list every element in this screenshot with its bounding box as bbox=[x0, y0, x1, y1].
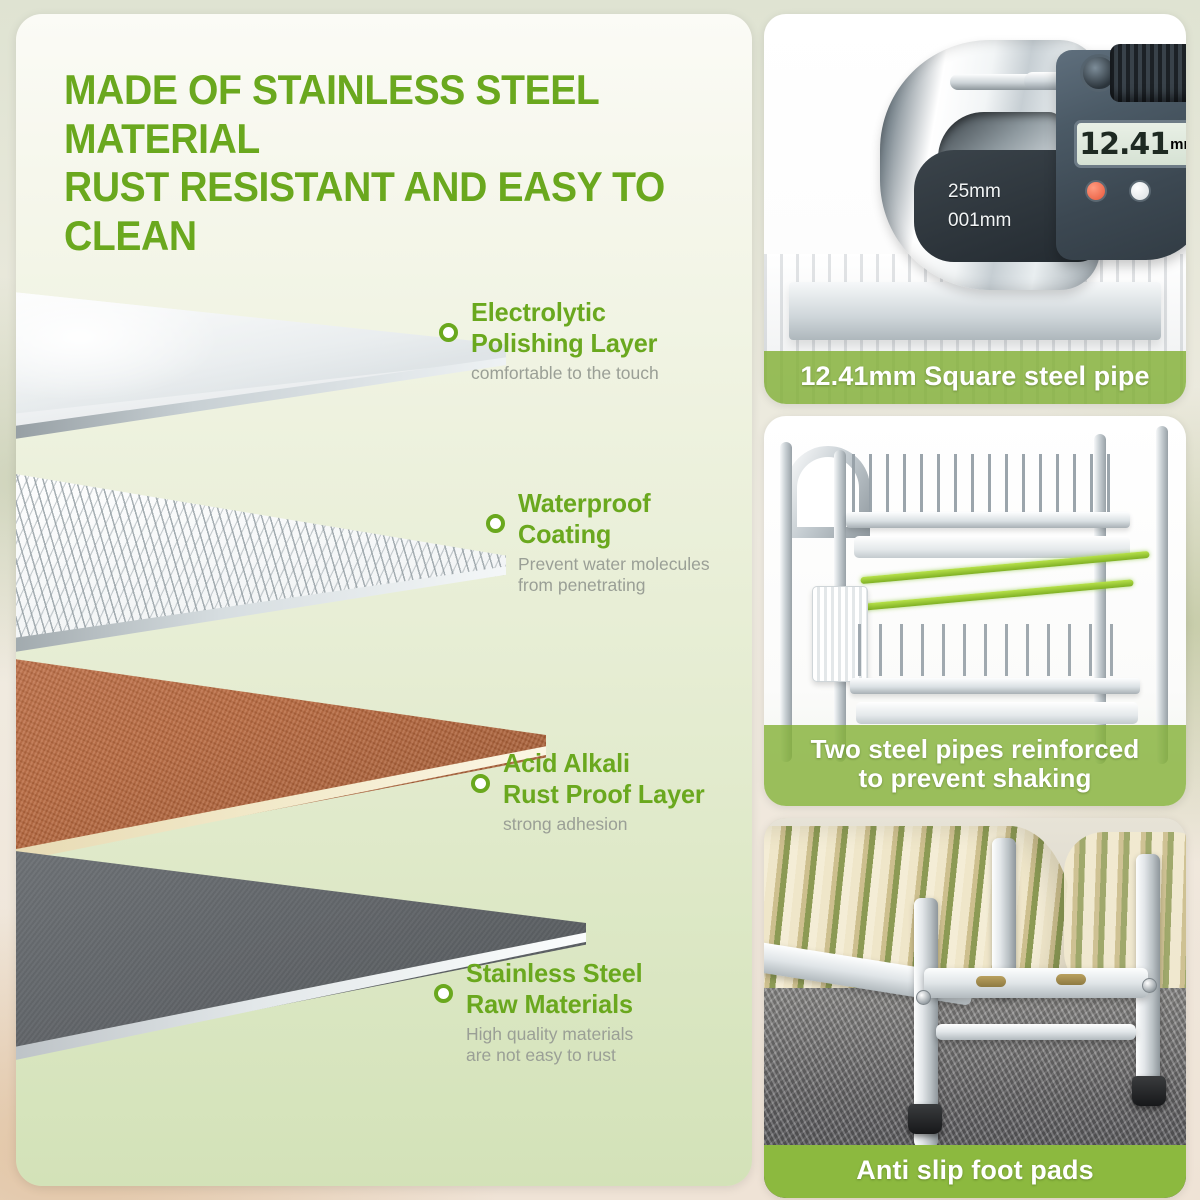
reinforcement-pipe-highlight-lower bbox=[850, 579, 1133, 612]
rack-upper-shelf bbox=[846, 512, 1130, 528]
rail-slot-left bbox=[976, 976, 1006, 987]
circle-bullet-icon bbox=[471, 774, 490, 793]
rack-post-left bbox=[780, 442, 792, 762]
rack-cross-rail-upper bbox=[924, 968, 1148, 998]
polishing-layer-gloss bbox=[16, 276, 506, 496]
callout-title-line-1: Waterproof bbox=[518, 488, 651, 518]
callout-subtitle-line-1: strong adhesion bbox=[503, 814, 628, 834]
rack-cross-rail-lower bbox=[936, 1024, 1136, 1040]
callout-stainless-steel-raw-materials: Stainless Steel Raw Materials High quali… bbox=[434, 958, 648, 1066]
callout-subtitle-line-1: comfortable to the touch bbox=[471, 363, 659, 383]
rack-drip-tray-lower bbox=[856, 702, 1138, 724]
card-caption-reinforced-pipes: Two steel pipes reinforced to prevent sh… bbox=[764, 725, 1186, 806]
micrometer-reading-unit: mm bbox=[1170, 136, 1186, 153]
waterproof-coating-layer-graphic bbox=[16, 450, 506, 690]
anti-slip-foot-pad-left bbox=[908, 1104, 942, 1134]
digital-micrometer-graphic: 25mm 001mm 12.41 mm bbox=[788, 28, 1186, 328]
callout-title-line-2: Rust Proof Layer bbox=[503, 779, 705, 809]
feature-cards-column: 25mm 001mm 12.41 mm 12.41mm Square steel… bbox=[764, 14, 1186, 1198]
rack-screw-right bbox=[1142, 978, 1157, 993]
red-button-icon[interactable] bbox=[1085, 180, 1107, 202]
callout-waterproof-coating: Waterproof Coating Prevent water molecul… bbox=[486, 488, 710, 596]
card-caption-anti-slip-foot-pads: Anti slip foot pads bbox=[764, 1145, 1186, 1198]
caption-line-2: to prevent shaking bbox=[859, 763, 1092, 793]
anti-slip-foot-pad-right bbox=[1132, 1076, 1166, 1106]
rack-screw-left bbox=[916, 990, 931, 1005]
callout-title-line-2: Raw Materials bbox=[466, 989, 633, 1019]
callout-acid-alkali-rust-proof-layer: Acid Alkali Rust Proof Layer strong adhe… bbox=[471, 748, 711, 835]
circle-bullet-icon bbox=[439, 323, 458, 342]
circle-bullet-icon bbox=[434, 984, 453, 1003]
callout-title-line-2: Coating bbox=[518, 519, 611, 549]
callout-subtitle-line-1: High quality materials bbox=[466, 1024, 633, 1044]
callout-electrolytic-polishing-layer: Electrolytic Polishing Layer comfortable… bbox=[439, 297, 663, 384]
card-anti-slip-foot-pads: Anti slip foot pads bbox=[764, 818, 1186, 1198]
rack-lower-tines bbox=[858, 624, 1122, 676]
material-layers-panel: MADE OF STAINLESS STEEL MATERIAL RUST RE… bbox=[16, 14, 752, 1186]
infographic-canvas: MADE OF STAINLESS STEEL MATERIAL RUST RE… bbox=[0, 0, 1200, 1200]
callout-subtitle-line-2: are not easy to rust bbox=[466, 1045, 616, 1065]
card-square-steel-pipe: 25mm 001mm 12.41 mm 12.41mm Square steel… bbox=[764, 14, 1186, 404]
rack-upper-tines bbox=[852, 454, 1120, 512]
micrometer-lcd-display: 12.41 mm bbox=[1074, 120, 1186, 168]
callout-title-line-2: Polishing Layer bbox=[471, 328, 657, 358]
card-caption-square-steel-pipe: 12.41mm Square steel pipe bbox=[764, 351, 1186, 404]
callout-subtitle-line-1: Prevent water molecules bbox=[518, 554, 710, 574]
micrometer-reading-value: 12.41 bbox=[1079, 127, 1169, 162]
rack-lower-shelf bbox=[850, 678, 1140, 694]
rail-slot-right bbox=[1056, 974, 1086, 985]
white-button-icon[interactable] bbox=[1129, 180, 1151, 202]
card-reinforced-steel-pipes: Two steel pipes reinforced to prevent sh… bbox=[764, 416, 1186, 806]
rack-post-right bbox=[1156, 426, 1168, 764]
callout-title-line-1: Stainless Steel bbox=[466, 958, 643, 988]
callout-title-line-1: Electrolytic bbox=[471, 297, 606, 327]
micrometer-thimble bbox=[1110, 44, 1186, 102]
callout-subtitle-line-2: from penetrating bbox=[518, 575, 645, 595]
callout-title-line-1: Acid Alkali bbox=[503, 748, 630, 778]
circle-bullet-icon bbox=[486, 514, 505, 533]
rack-drip-tray-upper bbox=[854, 536, 1130, 558]
caption-line-1: Two steel pipes reinforced bbox=[811, 734, 1140, 764]
